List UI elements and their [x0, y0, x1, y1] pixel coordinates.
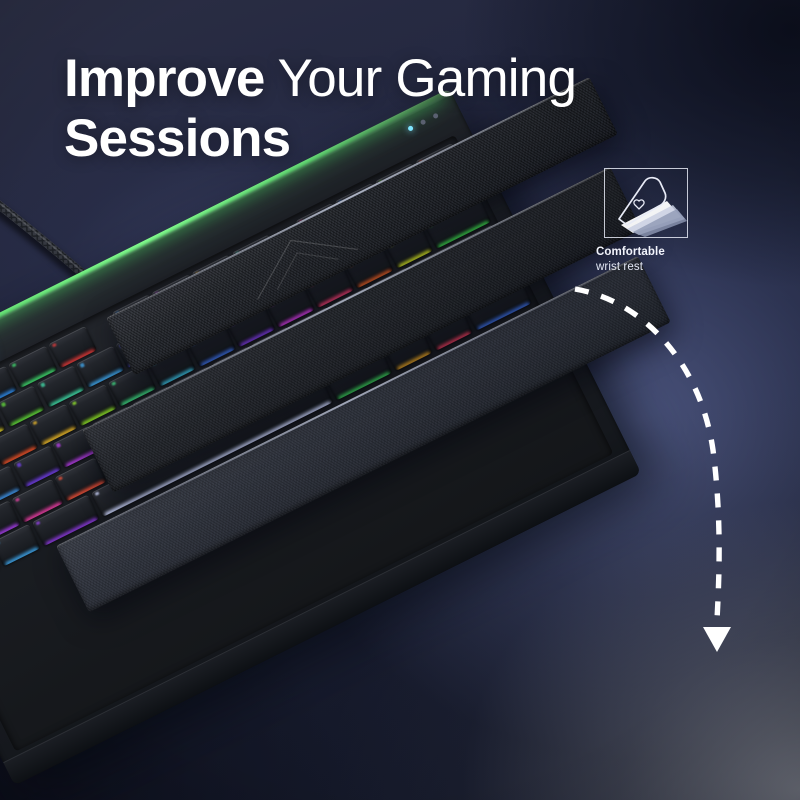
banner-canvas: VERTUX Improve Your Gaming Sessions: [0, 0, 800, 800]
feature-badge: Comfortable wrist rest: [596, 168, 688, 273]
badge-title: Comfortable: [596, 246, 688, 258]
headline-regular: Your Gaming: [265, 49, 577, 108]
headline-line-two: Sessions: [64, 112, 576, 166]
page-title: Improve Your Gaming Sessions: [64, 52, 576, 166]
headline-emphasis: Improve: [64, 49, 265, 108]
badge-subtitle: wrist rest: [596, 261, 688, 273]
wrist-rest-icon: [604, 168, 688, 238]
